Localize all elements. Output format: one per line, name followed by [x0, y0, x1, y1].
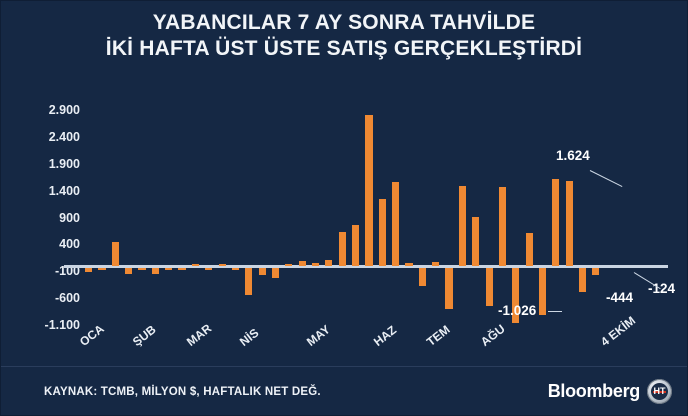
bar-7 [178, 268, 185, 270]
bar-20 [352, 225, 359, 266]
bar-19 [339, 232, 346, 266]
bar-10 [219, 264, 226, 266]
bar-30 [486, 268, 493, 306]
bar-23 [392, 182, 399, 266]
bar-9 [205, 268, 212, 270]
data-label-1026: -1.026 [498, 303, 536, 318]
bar-15 [285, 264, 292, 266]
bar-12 [245, 268, 252, 295]
bar-24 [405, 263, 412, 266]
bar-17 [312, 263, 319, 266]
footer-divider [0, 366, 688, 367]
page-title: YABANCILAR 7 AY SONRA TAHVİLDE İKİ HAFTA… [0, 10, 688, 62]
bar-26 [432, 262, 439, 266]
title-line-1: YABANCILAR 7 AY SONRA TAHVİLDE [153, 11, 536, 34]
bar-28 [459, 186, 466, 266]
bar-5 [152, 268, 159, 274]
y-tick-label-0: 2.900 [18, 103, 80, 117]
y-axis: 2.9002.4001.9001.400900400-100-600-1.100 [18, 88, 80, 336]
bar-29 [472, 217, 479, 266]
chart-figure: YABANCILAR 7 AY SONRA TAHVİLDE İKİ HAFTA… [0, 0, 688, 416]
bar-3 [125, 268, 132, 274]
bar-35 [552, 179, 559, 266]
ht-logo-text: HT [654, 387, 666, 396]
bloomberg-wordmark: Bloomberg [548, 381, 640, 402]
bar-6 [165, 268, 172, 270]
title-line-2: İKİ HAFTA ÜST ÜSTE SATIŞ GERÇEKLEŞTİRDİ [0, 36, 688, 62]
data-label-444: -444 [606, 290, 633, 305]
bar-13 [259, 268, 266, 275]
bar-16 [299, 261, 306, 266]
bar-22 [379, 199, 386, 266]
bar-4 [138, 268, 145, 270]
bar-37 [579, 268, 586, 292]
plot-area [84, 96, 668, 328]
y-tick-label-5: 400 [18, 237, 80, 251]
bar-38 [592, 268, 599, 275]
bar-1 [98, 268, 105, 270]
y-tick-label-3: 1.400 [18, 184, 80, 198]
bar-2 [112, 242, 119, 266]
y-tick-label-7: -600 [18, 291, 80, 305]
y-tick-label-1: 2.400 [18, 130, 80, 144]
bar-8 [192, 264, 199, 266]
x-tick-label-oca: OCA [77, 322, 107, 349]
brand-lockup: Bloomberg HT [548, 379, 672, 404]
bar-14 [272, 268, 279, 278]
bar-31 [499, 187, 506, 266]
bar-25 [419, 268, 426, 286]
bar-21 [365, 115, 372, 266]
bar-11 [232, 268, 239, 270]
x-axis: OCAŞUBMARNİSMAYHAZTEMAĞU4 EKİM [0, 330, 688, 380]
bar-27 [445, 268, 452, 309]
bar-0 [85, 268, 92, 272]
leader-line-1 [548, 311, 562, 312]
bar-18 [325, 260, 332, 266]
source-note: KAYNAK: TCMB, MİLYON $, HAFTALIK NET DEĞ… [44, 386, 321, 398]
bar-36 [566, 181, 573, 266]
bar-34 [539, 268, 546, 315]
y-tick-label-2: 1.900 [18, 157, 80, 171]
data-label-1624: 1.624 [556, 148, 590, 163]
y-tick-label-4: 900 [18, 211, 80, 225]
ht-circle-logo-icon: HT [647, 379, 672, 404]
x-tick-label-ni̇s: NİS [237, 326, 261, 349]
bar-33 [526, 233, 533, 266]
